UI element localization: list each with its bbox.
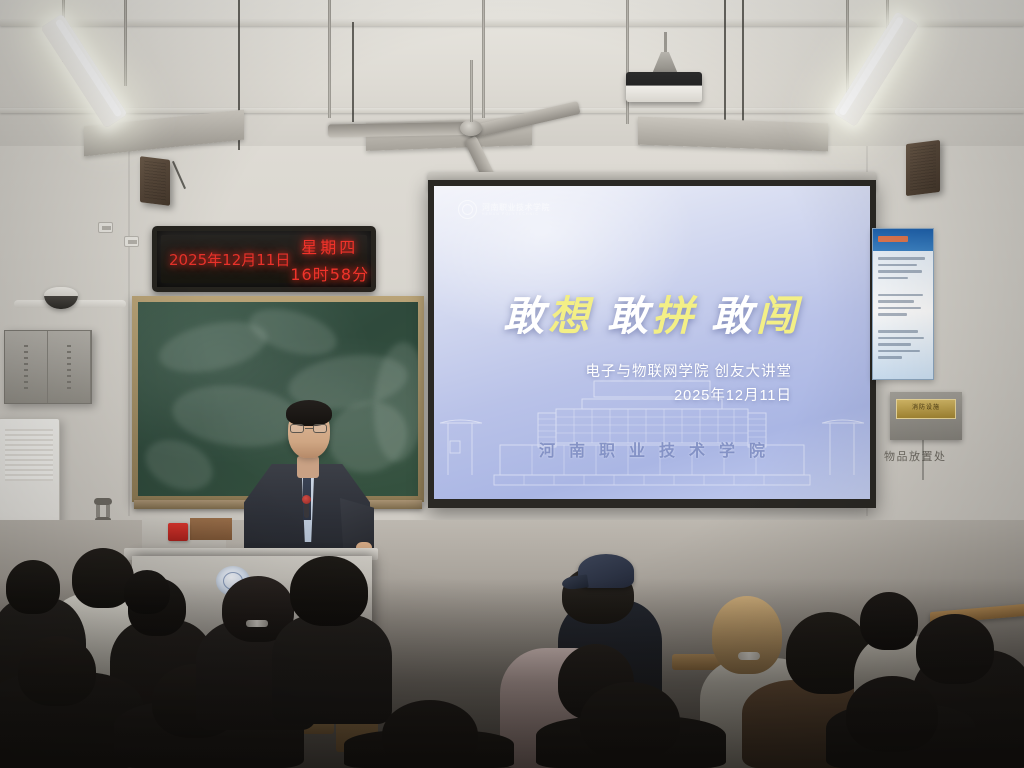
glasses-lens-left — [290, 424, 304, 433]
audience-head-curly — [290, 556, 368, 626]
hair-tie-icon — [738, 652, 760, 660]
lecture-hall-photo: 2025年12月11日 星期四 16时58分 河南职业技术学院 — [0, 0, 1024, 768]
projector-icon — [626, 72, 702, 102]
headline-char-1: 敢 — [503, 292, 548, 340]
chalk-smudge — [244, 302, 342, 364]
power-outlet-icon — [98, 222, 113, 233]
slide-logo-text-group: 河南职业技术学院 HENAN POLYTECHNIC — [482, 203, 550, 216]
plaque-text: 消防设施 — [897, 400, 955, 417]
wall-speaker-right — [906, 140, 940, 196]
slide-subtitle-line1: 电子与物联网学院 创友大讲堂 — [585, 360, 792, 381]
audience-head-blonde — [712, 596, 782, 674]
light-hanger-rod-5 — [626, 0, 629, 124]
poster-body-text — [878, 257, 928, 373]
headline-char-6: 闯 — [756, 292, 801, 340]
fan-blade-left — [328, 122, 466, 137]
audience-head-left-1 — [6, 560, 60, 614]
audience-head-center-3 — [580, 682, 680, 760]
wall-vseam-left — [128, 146, 130, 516]
light-hanger-rod-7 — [846, 0, 849, 96]
speaker-glasses — [290, 424, 328, 433]
audience-head-puffer — [860, 592, 918, 650]
poster-title-bar — [878, 236, 908, 242]
led-clock-time: 16时58分 — [290, 261, 369, 285]
power-outlet-icon-2 — [124, 236, 139, 247]
ceiling-beam-mid — [0, 108, 1024, 113]
cabinet-door-left[interactable] — [5, 331, 48, 403]
audience-head-right-2 — [846, 676, 938, 752]
headline-char-5: 敢 — [711, 292, 756, 340]
audience-head-right-1 — [916, 614, 994, 684]
fire-equipment-plaque: 消防设施 — [896, 399, 956, 419]
ceiling-wire-2 — [352, 22, 354, 122]
light-hanger-rod-3 — [328, 0, 331, 118]
headline-char-4: 拼 — [652, 292, 697, 340]
led-clock-date: 2025年12月11日 — [169, 249, 290, 270]
audience-head-left-5 — [124, 570, 170, 614]
led-clock-inner: 2025年12月11日 星期四 16时58分 — [161, 235, 367, 283]
projector-pole — [664, 32, 667, 54]
poster-header — [873, 229, 933, 251]
audience-head-mid-left — [382, 700, 478, 768]
light-hanger-rod-4 — [482, 0, 485, 118]
ac-grille — [5, 429, 53, 481]
light-hanger-rod-2 — [124, 0, 127, 86]
red-box-on-desk — [168, 523, 188, 541]
cabinet-vents — [67, 345, 71, 391]
presentation-slide: 河南职业技术学院 HENAN POLYTECHNIC 敢想敢拼敢闯 电子与物联网… — [434, 186, 870, 499]
electrical-cabinet — [4, 330, 92, 404]
school-emblem-icon — [458, 200, 477, 219]
speaker-grille — [144, 161, 166, 202]
wall-notice-poster — [872, 228, 934, 380]
headline-char-3: 敢 — [607, 292, 652, 340]
cabinet-vents — [24, 345, 28, 391]
wall-speaker-left — [140, 156, 170, 206]
building-name-text: 河南职业技术学院 — [434, 437, 870, 461]
glasses-bridge — [305, 428, 313, 429]
slide-logo-subtitle: HENAN POLYTECHNIC — [482, 212, 550, 216]
slide-logo-name: 河南职业技术学院 — [482, 203, 550, 212]
fan-down-rod — [470, 60, 473, 122]
cabinet-door-right[interactable] — [48, 331, 91, 403]
plaque-cable — [922, 440, 924, 480]
audience-torso-center-2 — [272, 614, 392, 724]
glasses-lens-right — [313, 424, 327, 433]
audience-head-left-3 — [18, 636, 96, 706]
slide-headline: 敢想敢拼敢闯 — [434, 282, 870, 342]
led-clock-display: 2025年12月11日 星期四 16时58分 — [152, 226, 376, 292]
microphone-icon — [304, 500, 309, 518]
speaker-grille — [910, 144, 936, 191]
ceiling-fan-hub — [460, 120, 482, 136]
desk-wood-panel — [190, 518, 232, 540]
storage-area-label: 物品放置处 — [884, 448, 947, 464]
chalk-smudge — [169, 379, 305, 452]
hair-clip-icon — [246, 620, 268, 627]
speaker-neck — [297, 456, 319, 478]
slide-school-logo: 河南职业技术学院 HENAN POLYTECHNIC — [458, 200, 550, 219]
ceiling-beam-horizontal — [0, 20, 1024, 26]
led-clock-weekday: 星期四 — [290, 234, 369, 258]
ceiling-wire-3 — [724, 0, 726, 132]
speaker-hair — [286, 400, 332, 426]
projection-screen: 河南职业技术学院 HENAN POLYTECHNIC 敢想敢拼敢闯 电子与物联网… — [428, 180, 876, 508]
fire-equipment-plaque-box: 消防设施 — [890, 392, 962, 440]
led-clock-right-group: 星期四 16时58分 — [290, 234, 369, 285]
ceiling-wire-4 — [742, 0, 744, 122]
headline-char-2: 想 — [548, 292, 593, 340]
